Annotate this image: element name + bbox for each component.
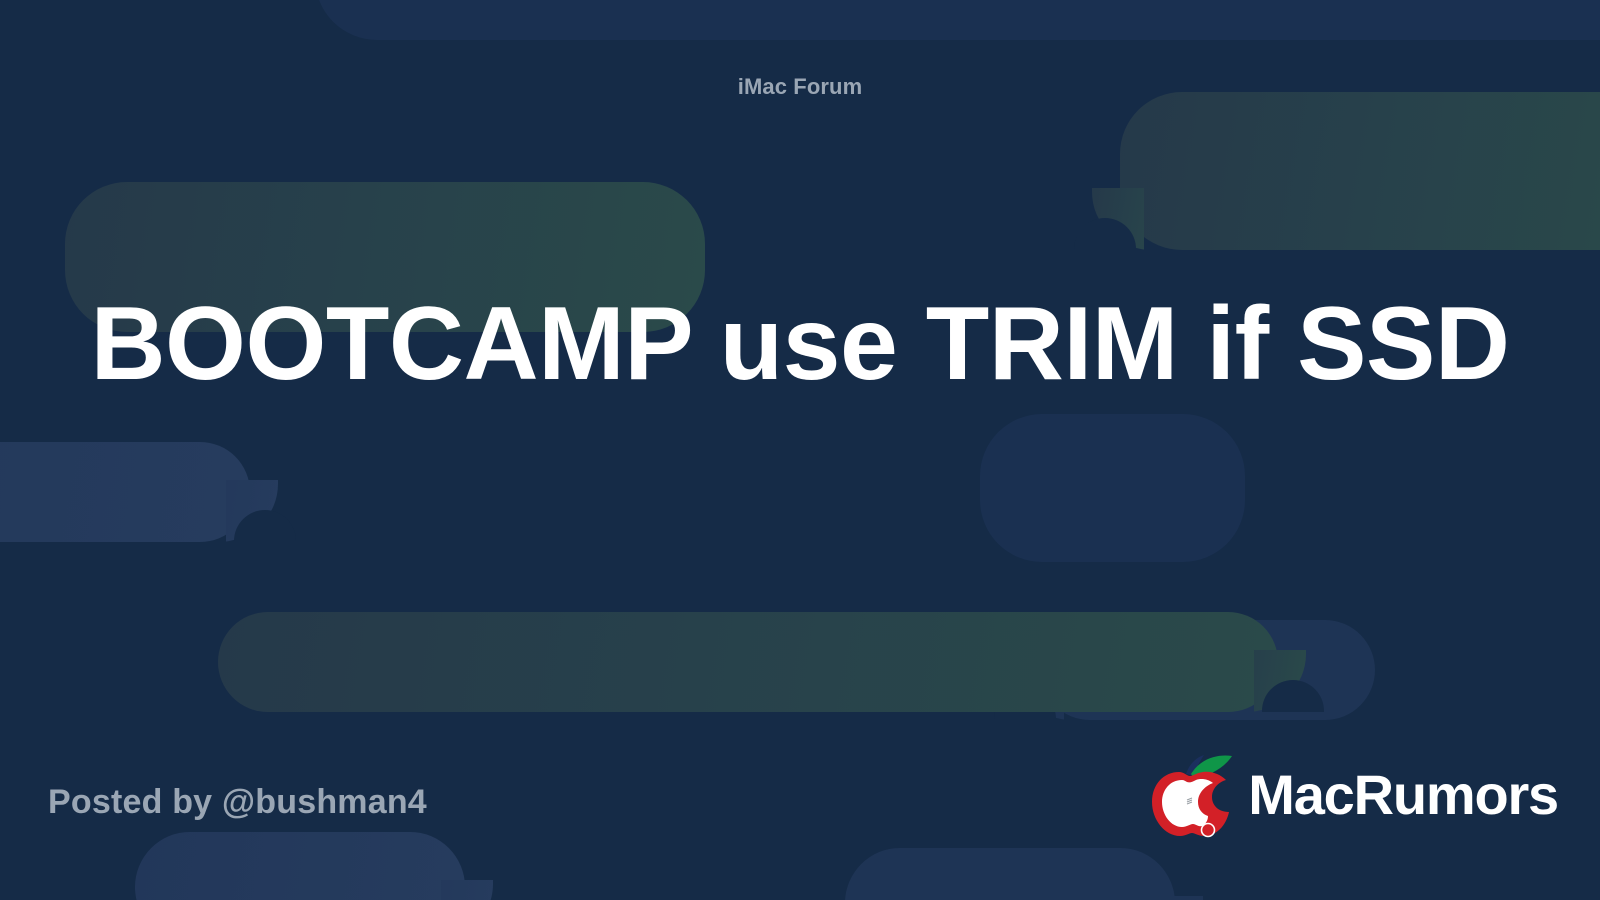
social-share-card: iMac Forum BOOTCAMP use TRIM if SSD Post…	[0, 0, 1600, 900]
speech-bubble-icon	[0, 442, 250, 542]
forum-label: iMac Forum	[0, 74, 1600, 100]
brand-name: MacRumors	[1248, 767, 1558, 823]
speech-bubble-icon	[980, 414, 1245, 562]
speech-bubble-icon	[845, 848, 1175, 900]
speech-bubble-icon	[1040, 620, 1375, 720]
speech-bubble-icon	[315, 0, 1600, 40]
speech-bubble-icon	[1120, 92, 1600, 250]
brand-lockup: MacRumors	[1146, 752, 1558, 838]
speech-bubble-icon	[135, 832, 465, 900]
posted-by-label: Posted by @bushman4	[48, 783, 427, 822]
page-title: BOOTCAMP use TRIM if SSD	[80, 278, 1520, 411]
macrumors-apple-logo-icon	[1146, 752, 1238, 838]
speech-bubble-icon	[218, 612, 1278, 712]
